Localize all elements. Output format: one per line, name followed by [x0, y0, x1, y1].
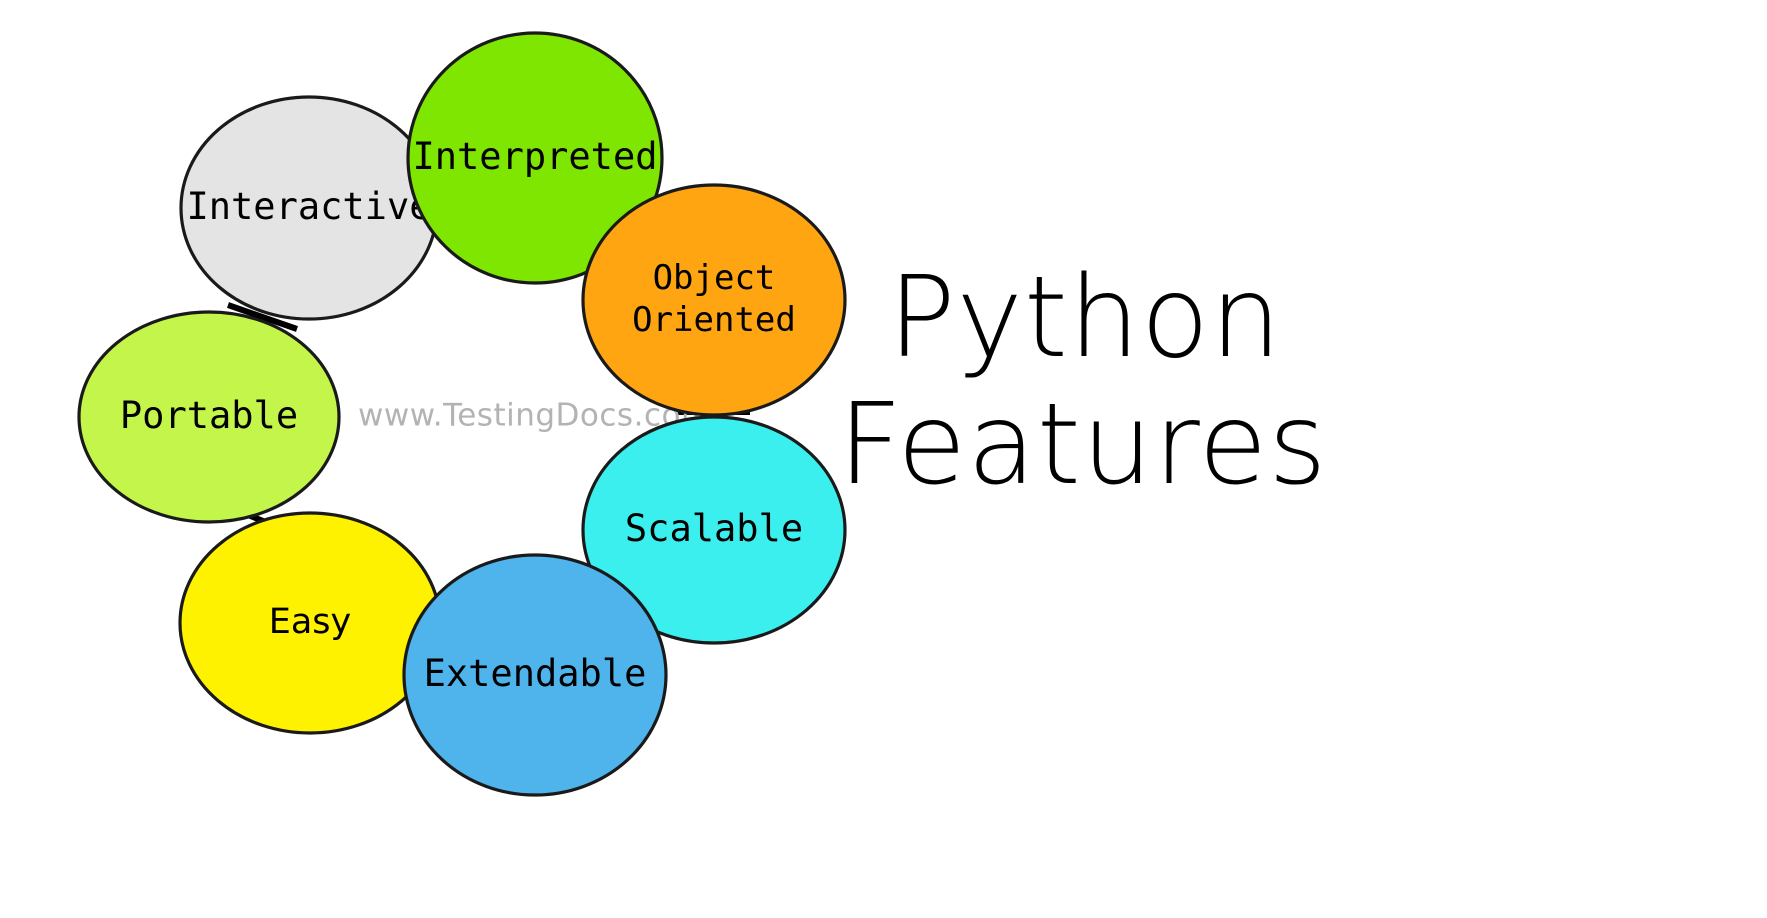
diagram-canvas: www.TestingDocs.com Interactive Portable…	[0, 0, 1767, 918]
title-line-1: Python	[888, 253, 1282, 383]
title-line-2: Features	[838, 380, 1328, 510]
node-interpreted-label: Interpreted	[412, 135, 657, 178]
node-portable[interactable]: Portable	[79, 312, 339, 522]
python-features-diagram: www.TestingDocs.com Interactive Portable…	[0, 0, 1767, 918]
node-object-oriented[interactable]: ObjectOriented	[583, 185, 845, 415]
node-interactive[interactable]: Interactive	[181, 97, 437, 319]
node-easy-label: Easy	[269, 602, 352, 642]
node-interactive-label: Interactive	[186, 185, 431, 228]
page-title: Python Features	[838, 253, 1328, 510]
node-extendable[interactable]: Extendable	[404, 555, 666, 795]
node-scalable-label: Scalable	[625, 507, 803, 550]
node-extendable-label: Extendable	[424, 652, 647, 695]
node-easy[interactable]: Easy	[180, 513, 440, 733]
node-portable-label: Portable	[120, 394, 298, 437]
